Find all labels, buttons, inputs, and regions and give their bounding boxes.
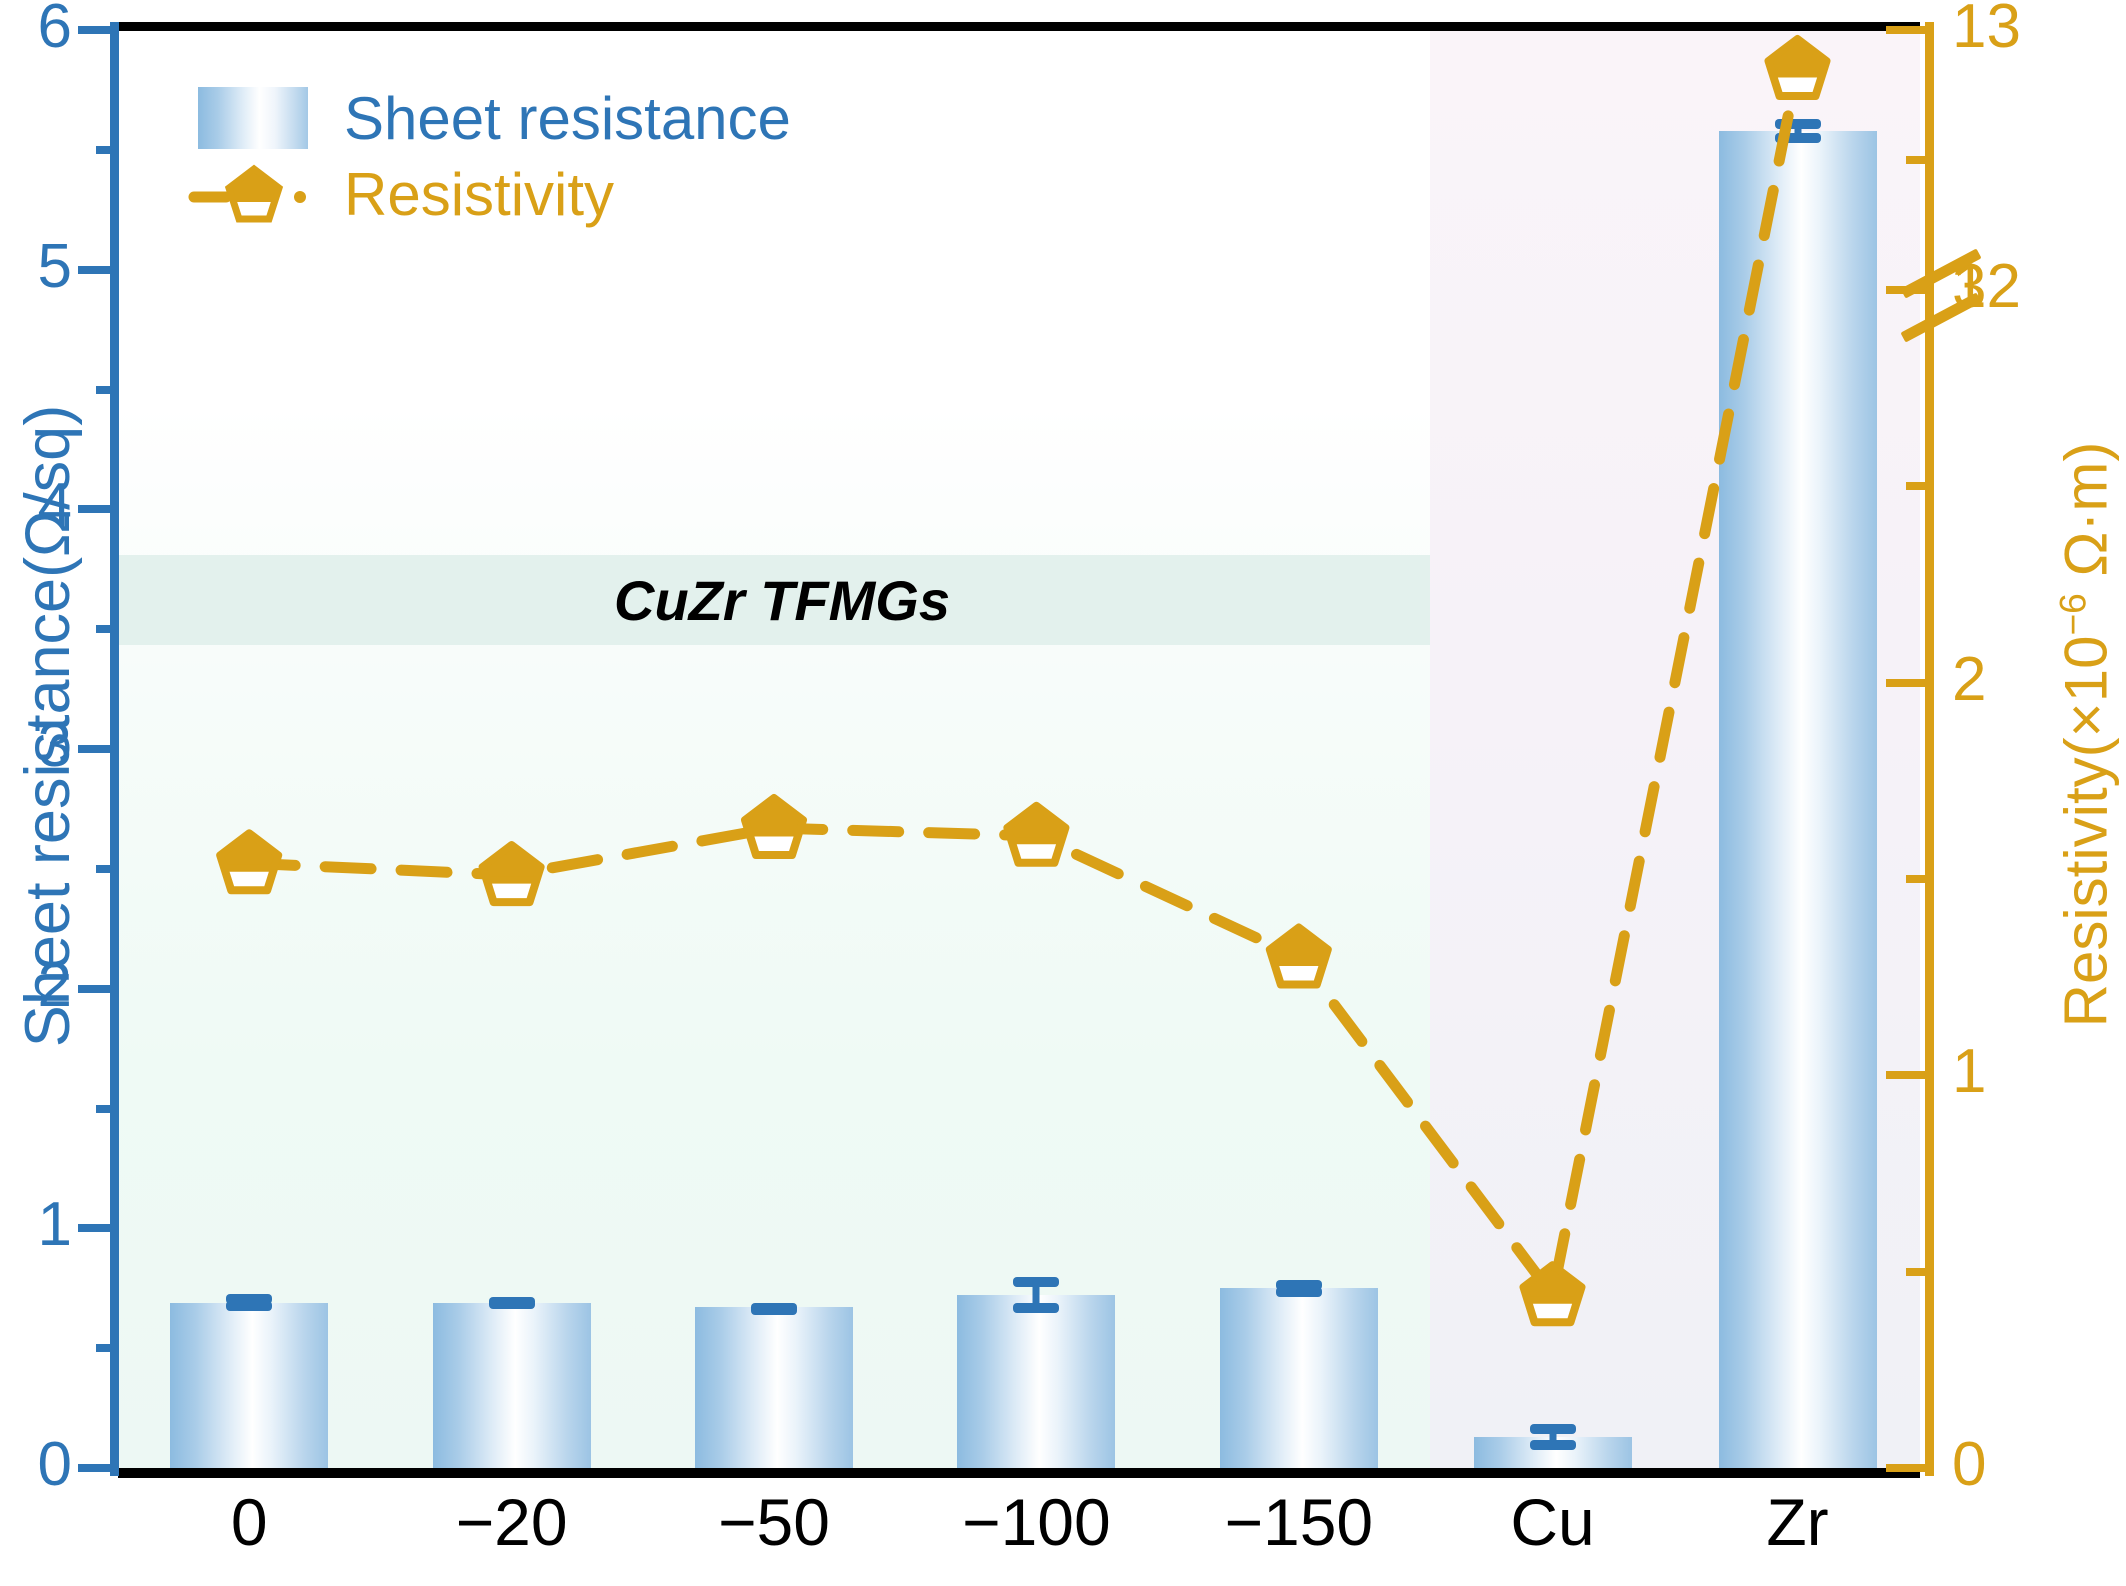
left-tick-2: [78, 985, 118, 993]
legend-bar-swatch-icon: [198, 87, 308, 149]
right-axis-title-prefix: Resistivity(×10: [2053, 636, 2120, 1028]
x-tick-label-Cu: Cu: [1510, 1484, 1594, 1560]
right-tick-2: [1886, 679, 1928, 687]
left-minor-tick: [96, 146, 118, 154]
legend-label-sheet-resistance: Sheet resistance: [344, 84, 791, 153]
left-tick-6: [78, 26, 118, 34]
left-tick-3: [78, 745, 118, 753]
right-tick-label-13: 13: [1952, 0, 2112, 58]
legend-entry-sheet-resistance: Sheet resistance: [198, 80, 791, 156]
left-minor-tick: [96, 1105, 118, 1113]
legend-entry-resistivity: Resistivity: [198, 156, 791, 232]
resistivity-marker-neg150: [1270, 928, 1328, 985]
left-minor-tick: [96, 386, 118, 394]
resistivity-marker-neg50: [745, 798, 803, 855]
right-tick-label-0: 0: [1952, 1434, 2112, 1496]
x-tick-label-0: 0: [231, 1484, 268, 1560]
left-tick-label-0: 0: [0, 1434, 72, 1496]
resistivity-marker-neg20: [483, 845, 541, 902]
right-axis-title: Resistivity(×10−6 Ω·m): [2052, 285, 2121, 1185]
right-minor-tick: [1906, 875, 1928, 883]
legend-line-marker-icon: [198, 163, 308, 225]
right-tick-0: [1886, 1464, 1928, 1472]
x-tick-label-neg150: −150: [1224, 1484, 1373, 1560]
legend-label-resistivity: Resistivity: [344, 160, 614, 229]
left-minor-tick: [96, 865, 118, 873]
legend: Sheet resistance Resistivity: [198, 80, 791, 232]
left-tick-1: [78, 1224, 118, 1232]
left-tick-label-6: 6: [0, 0, 72, 58]
left-tick-0: [78, 1464, 118, 1472]
left-tick-label-1: 1: [0, 1194, 72, 1256]
resistivity-marker-0: [220, 833, 278, 890]
right-axis-line: [1925, 22, 1934, 1476]
right-axis-title-suffix: Ω·m): [2053, 442, 2120, 593]
chart-figure: CuZr TFMGs 0123456 Sheet resistance(Ω/sq…: [0, 0, 2126, 1586]
resistivity-series: [118, 30, 1920, 1468]
left-tick-4: [78, 505, 118, 513]
x-tick-label-neg100: −100: [962, 1484, 1111, 1560]
plot-area: CuZr TFMGs: [118, 30, 1920, 1468]
resistivity-marker-neg100: [1007, 806, 1065, 863]
x-tick-label-neg20: −20: [456, 1484, 568, 1560]
left-minor-tick: [96, 625, 118, 633]
right-minor-tick: [1906, 482, 1928, 490]
left-tick-5: [78, 266, 118, 274]
left-minor-tick: [96, 1344, 118, 1352]
right-axis-title-exponent: −6: [2052, 593, 2094, 635]
left-axis-title: Sheet resistance(Ω/sq): [12, 276, 84, 1176]
right-minor-tick: [1906, 156, 1928, 164]
x-tick-label-Zr: Zr: [1766, 1484, 1828, 1560]
right-minor-tick: [1906, 1268, 1928, 1276]
right-tick-1: [1886, 1071, 1928, 1079]
right-tick-13: [1886, 26, 1928, 34]
bottom-spine: [118, 1468, 1920, 1478]
resistivity-marker-Zr: [1769, 39, 1827, 96]
resistivity-line: [249, 69, 1797, 1295]
x-tick-label-neg50: −50: [718, 1484, 830, 1560]
